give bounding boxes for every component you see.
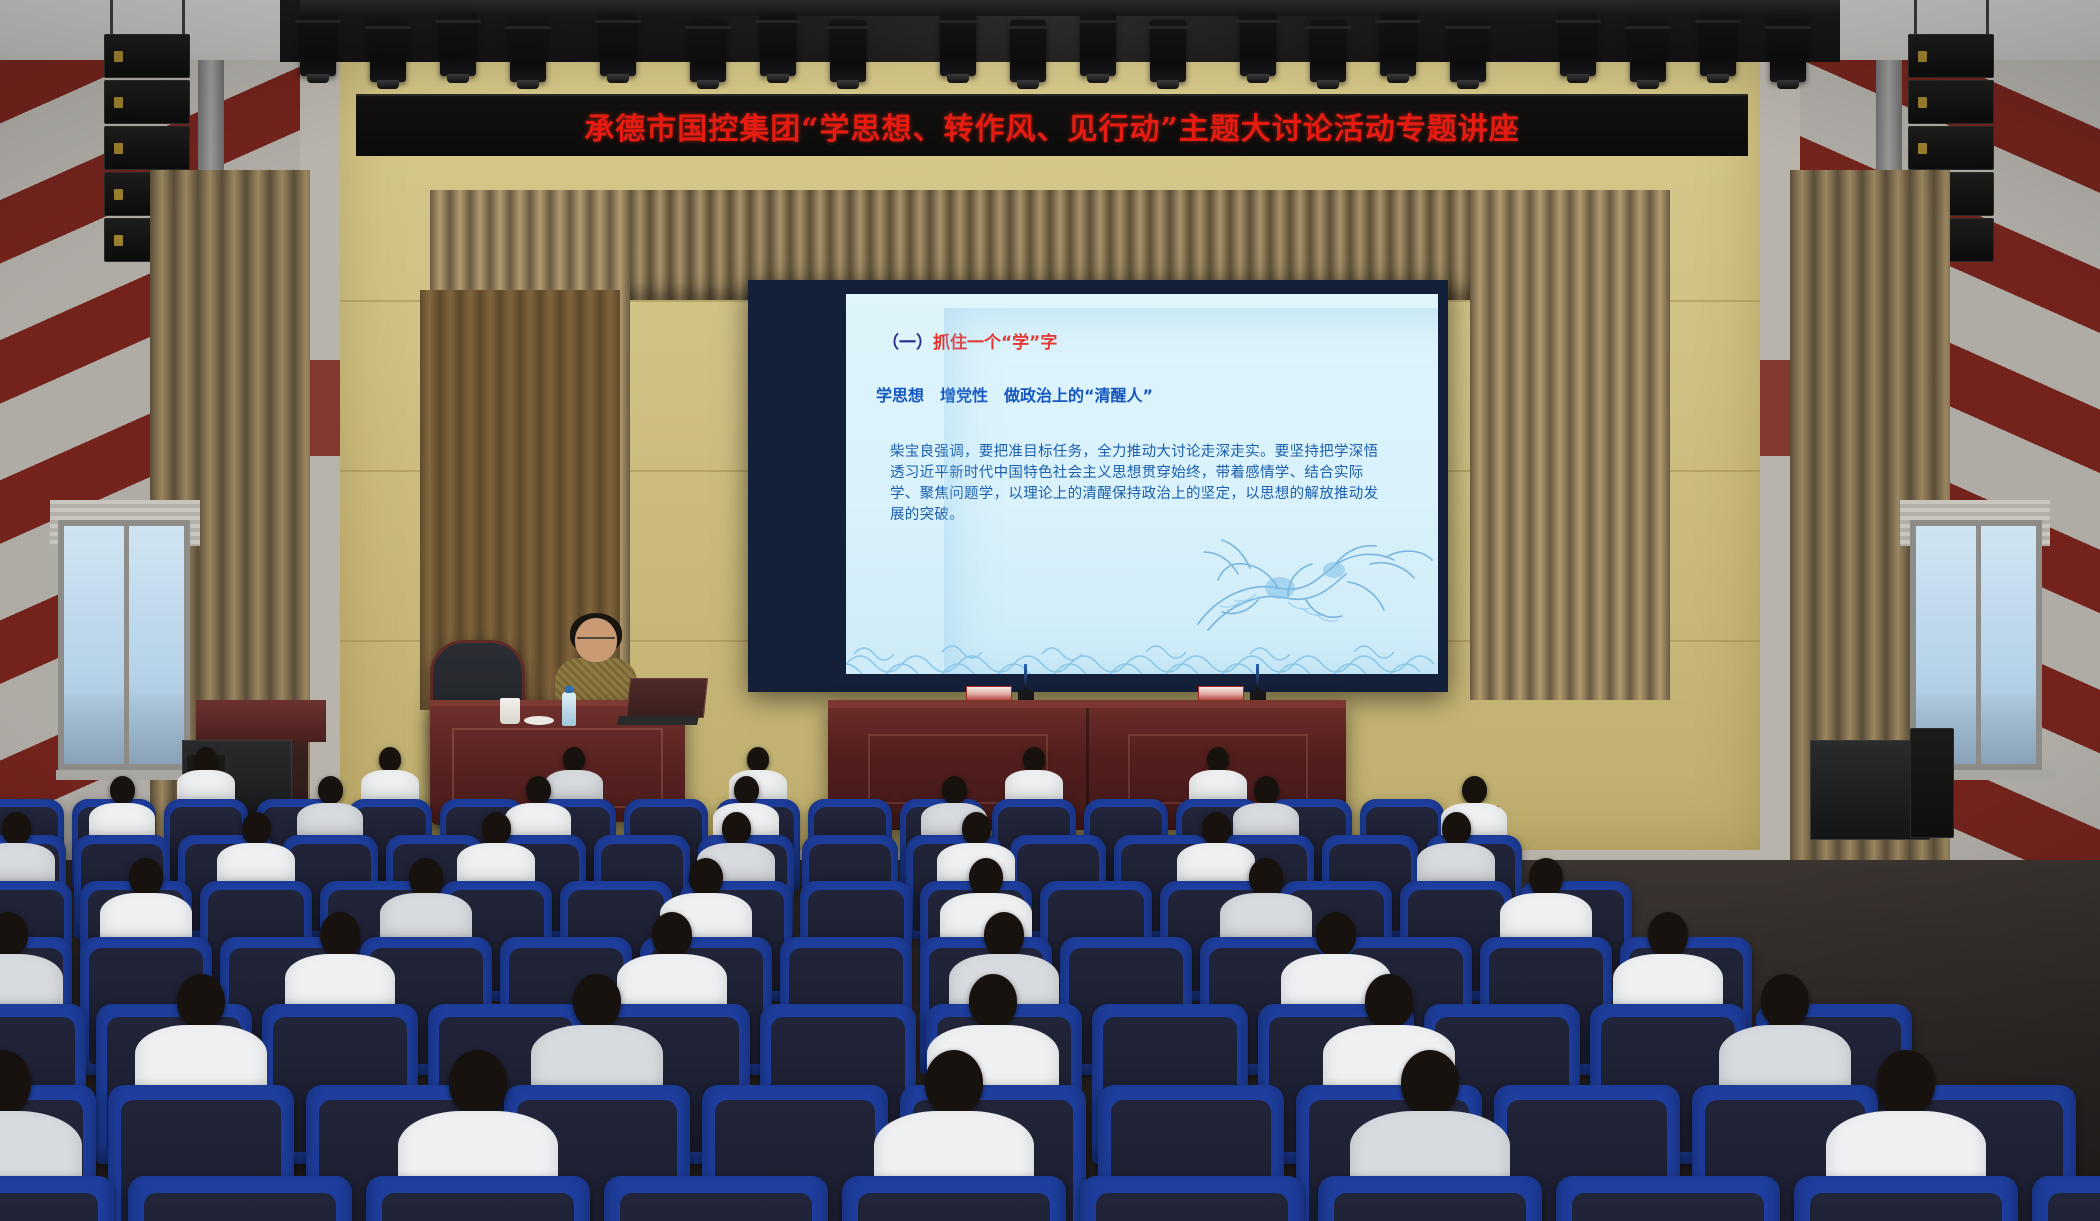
attendee-head: [1442, 812, 1471, 844]
attendee-head: [1316, 912, 1356, 957]
saucer: [524, 716, 554, 725]
attendee-torso: [1189, 770, 1247, 803]
attendee-torso: [1005, 770, 1063, 803]
audience-seat[interactable]: [1080, 1176, 1304, 1221]
attendee-torso: [545, 770, 603, 803]
window-left: [58, 520, 190, 770]
microphone-stem-right: [1256, 664, 1259, 690]
attendee-head: [734, 776, 759, 804]
audience-seat[interactable]: [842, 1176, 1066, 1221]
stage-light-icon: [510, 20, 546, 82]
stage-light-icon: [690, 20, 726, 82]
floor-speaker-right: [1910, 728, 1954, 838]
stage-light-icon: [600, 14, 636, 76]
attendee-head: [1529, 858, 1563, 896]
attendee-torso: [0, 843, 55, 887]
glasses-icon: [577, 637, 615, 645]
slide-body-text: 柴宝良强调，要把准目标任务，全力推动大讨论走深走实。要坚持把学深悟透习近平新时代…: [890, 442, 1390, 526]
slide-subtitle: 学思想 增党性 做政治上的“清醒人”: [876, 382, 1153, 406]
attendee-head: [1202, 812, 1231, 844]
attendee-head: [409, 858, 443, 896]
attendee-head: [747, 747, 769, 772]
stage-light-icon: [300, 14, 336, 76]
stage-light-icon: [1310, 20, 1346, 82]
attendee-head: [129, 858, 163, 896]
stage-light-icon: [1450, 20, 1486, 82]
attendee-head: [195, 747, 217, 772]
lighting-truss: [300, 0, 1840, 16]
attendee-head: [110, 776, 135, 804]
attendee-head: [1023, 747, 1045, 772]
attendee-head: [242, 812, 271, 844]
attendee-torso: [177, 770, 235, 803]
audience-seat[interactable]: [1556, 1176, 1780, 1221]
stage-curtain-right: [1470, 190, 1670, 700]
attendee-head: [2, 812, 31, 844]
attendee-head: [969, 858, 1003, 896]
attendee-head: [320, 912, 360, 957]
attendee-head: [379, 747, 401, 772]
audience-seat[interactable]: [0, 1176, 114, 1221]
stage-light-icon: [760, 14, 796, 76]
stage-light-icon: [940, 14, 976, 76]
audience-seat[interactable]: [2032, 1176, 2100, 1221]
attendee-torso: [361, 770, 419, 803]
stage-light-icon: [1010, 20, 1046, 82]
teacup: [500, 698, 520, 724]
attendee-torso: [457, 843, 535, 887]
attendee-head: [689, 858, 723, 896]
attendee-head: [318, 776, 343, 804]
attendee-head: [1648, 912, 1688, 957]
laptop-screen: [626, 678, 708, 718]
laptop-keyboard: [617, 716, 699, 725]
podium-desk-items: [500, 690, 700, 730]
attendee-head: [1249, 858, 1283, 896]
attendee-head: [1761, 974, 1809, 1028]
slide-title-paren: （一）: [882, 333, 933, 353]
audience-seat[interactable]: [604, 1176, 828, 1221]
microphone-stem-left: [1024, 664, 1027, 690]
water-bottle: [562, 692, 576, 726]
event-banner: 承德市国控集团“学思想、转作风、见行动”主题大讨论活动专题讲座: [356, 94, 1748, 156]
stage-light-icon: [1630, 20, 1666, 82]
attendee-head: [1462, 776, 1487, 804]
wave-pattern-icon: [846, 630, 1438, 674]
projection-screen[interactable]: （一）抓住一个“学”字 学思想 增党性 做政治上的“清醒人” 柴宝良强调，要把准…: [846, 294, 1438, 674]
attendee-head: [1254, 776, 1279, 804]
audience-seat[interactable]: [128, 1176, 352, 1221]
attendee-head: [1365, 974, 1413, 1028]
conference-hall-photo: 承德市国控集团“学思想、转作风、见行动”主题大讨论活动专题讲座 （一）抓住一个“…: [0, 0, 2100, 1221]
attendee-head: [652, 912, 692, 957]
slide-title: （一）抓住一个“学”字: [882, 328, 1057, 353]
attendee-head: [722, 812, 751, 844]
attendee-head: [962, 812, 991, 844]
audience-seat[interactable]: [1318, 1176, 1542, 1221]
stage-light-icon: [830, 20, 866, 82]
attendee-head: [449, 1050, 507, 1115]
attendee-head: [563, 747, 585, 772]
attendee-head: [526, 776, 551, 804]
stage-light-icon: [1240, 14, 1276, 76]
audience-seat[interactable]: [366, 1176, 590, 1221]
attendee-head: [1401, 1050, 1459, 1115]
attendee-head: [482, 812, 511, 844]
audience-seat[interactable]: [1794, 1176, 2018, 1221]
stage-light-icon: [370, 20, 406, 82]
attendee-head: [1877, 1050, 1935, 1115]
stage-light-icon: [1080, 14, 1116, 76]
attendee-torso: [1417, 843, 1495, 887]
attendee-head: [984, 912, 1024, 957]
attendee-torso: [1177, 843, 1255, 887]
side-lectern: [196, 700, 326, 742]
stage-light-icon: [1150, 20, 1186, 82]
attendee-head: [1207, 747, 1229, 772]
projection-screen-frame: （一）抓住一个“学”字 学思想 增党性 做政治上的“清醒人” 柴宝良强调，要把准…: [748, 280, 1448, 692]
attendee-head: [969, 974, 1017, 1028]
attendee-head: [573, 974, 621, 1028]
stage-light-icon: [1560, 14, 1596, 76]
attendee-head: [925, 1050, 983, 1115]
attendee-head: [942, 776, 967, 804]
stage-light-icon: [440, 14, 476, 76]
stage-light-icon: [1380, 14, 1416, 76]
event-banner-text: 承德市国控集团“学思想、转作风、见行动”主题大讨论活动专题讲座: [584, 104, 1520, 148]
attendee-head: [177, 974, 225, 1028]
stage-light-icon: [1770, 20, 1806, 82]
attendee-torso: [217, 843, 295, 887]
slide-title-main: 抓住一个“学”字: [933, 333, 1057, 353]
stage-light-icon: [1700, 14, 1736, 76]
